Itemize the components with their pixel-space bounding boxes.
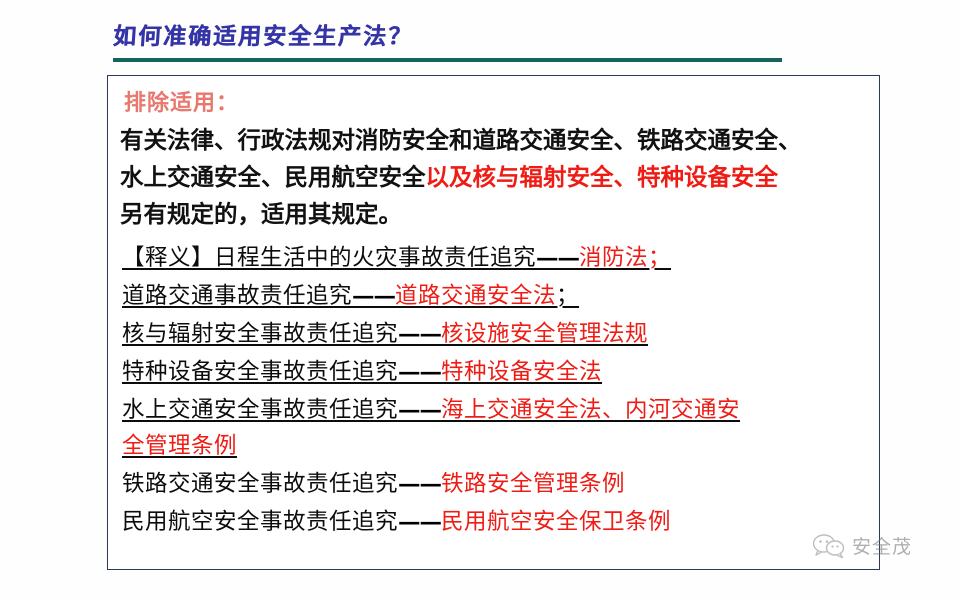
slide-canvas: 如何准确适用安全生产法？ 排除适用： 有关法律、行政法规对消防安全和道路交通安全… (0, 0, 960, 601)
item-subject: 水上交通安全事故责任追究 (122, 397, 398, 423)
watermark: 安全茂 (812, 532, 912, 559)
interpretation-item: 【释义】日程生活中的火灾事故责任追究——消防法； (122, 239, 871, 277)
exclusion-label: 排除适用： (124, 88, 871, 120)
item-dash: —— (398, 397, 441, 423)
content-frame: 排除适用： 有关法律、行政法规对消防安全和道路交通安全、铁路交通安全、 水上交通… (107, 75, 880, 570)
statute-line-2-red: 以及核与辐射安全、特种设备安全 (426, 163, 779, 191)
interpretation-item: 特种设备安全事故责任追究——特种设备安全法 (122, 353, 871, 391)
statute-line-2-black: 水上交通安全、民用航空安全 (120, 163, 426, 191)
interpretation-item: 铁路交通安全事故责任追究——铁路安全管理条例 (122, 465, 871, 503)
item-dash: —— (536, 245, 579, 271)
item-dash: —— (398, 471, 441, 497)
item-subject: 特种设备安全事故责任追究 (122, 359, 398, 385)
content-inner: 排除适用： 有关法律、行政法规对消防安全和道路交通安全、铁路交通安全、 水上交通… (108, 76, 879, 541)
item-law: 铁路安全管理条例 (441, 471, 625, 497)
interpretation-item: 道路交通事故责任追究——道路交通安全法； (122, 277, 871, 315)
page-title: 如何准确适用安全生产法？ (112, 22, 794, 52)
item-subject: 核与辐射安全事故责任追究 (122, 321, 398, 347)
item-subject: 道路交通事故责任追究 (122, 283, 352, 309)
item-law-continued: 全管理条例 (122, 433, 237, 459)
item-dash: —— (398, 359, 441, 385)
item-subject: 民用航空安全事故责任追究 (122, 509, 398, 535)
interpretation-item: 水上交通安全事故责任追究——海上交通安全法、内河交通安 (122, 391, 871, 429)
item-law: 海上交通安全法、内河交通安 (441, 397, 740, 423)
statute-line-3: 另有规定的，适用其规定。 (120, 196, 871, 233)
interpretation-item: 民用航空安全事故责任追究——民用航空安全保卫条例 (122, 503, 871, 541)
item-dash: —— (398, 509, 441, 535)
statute-line-2: 水上交通安全、民用航空安全以及核与辐射安全、特种设备安全 (120, 159, 871, 196)
item-tail: ； (556, 283, 579, 309)
item-subject: 【释义】日程生活中的火灾事故责任追究 (122, 245, 536, 271)
interpretation-item-continuation: 全管理条例 (122, 427, 871, 465)
item-law: 特种设备安全法 (441, 359, 602, 385)
item-law: 道路交通安全法 (395, 283, 556, 309)
title-block: 如何准确适用安全生产法？ (113, 22, 793, 52)
item-law: 消防法； (579, 245, 671, 271)
item-subject: 铁路交通安全事故责任追究 (122, 471, 398, 497)
interpretation-item: 核与辐射安全事故责任追究——核设施安全管理法规 (122, 315, 871, 353)
statute-line-1: 有关法律、行政法规对消防安全和道路交通安全、铁路交通安全、 (120, 122, 871, 159)
wechat-bubbles-icon (812, 533, 846, 559)
interpretation-list: 【释义】日程生活中的火灾事故责任追究——消防法； 道路交通事故责任追究——道路交… (122, 239, 871, 541)
item-law: 民用航空安全保卫条例 (441, 509, 671, 535)
item-dash: —— (352, 283, 395, 309)
item-dash: —— (398, 321, 441, 347)
title-underline-rule (113, 58, 782, 62)
item-law: 核设施安全管理法规 (441, 321, 648, 347)
watermark-label: 安全茂 (852, 532, 912, 559)
